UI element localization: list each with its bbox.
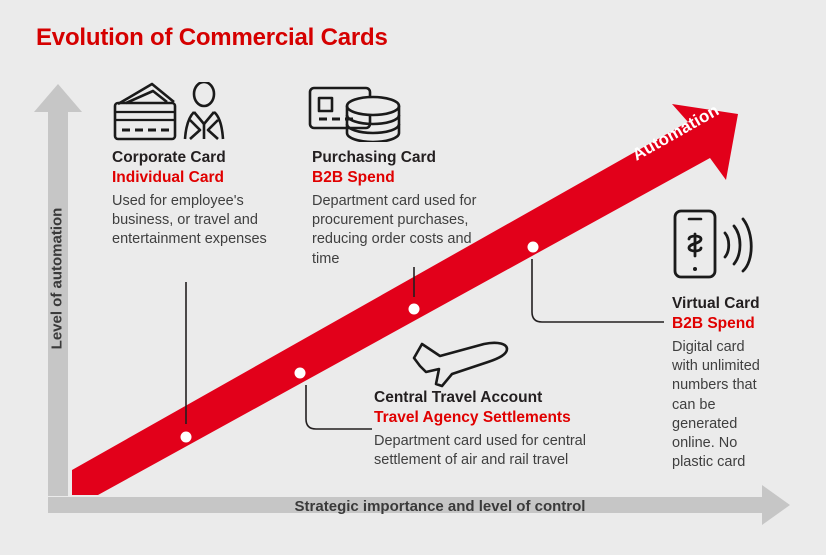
node-title: Central Travel Account — [374, 388, 589, 407]
node-title: Virtual Card — [672, 294, 772, 313]
node-description: Department card used for central settlem… — [374, 432, 589, 471]
node-subtitle: B2B Spend — [672, 314, 772, 333]
airplane-icon — [412, 336, 512, 393]
mobile-phone-contactless-payment-icon — [672, 208, 754, 291]
node-corporate-card: Corporate Card Individual Card Used for … — [112, 148, 277, 250]
node-subtitle: B2B Spend — [312, 168, 477, 187]
node-title: Corporate Card — [112, 148, 277, 167]
node-description: Used for employee's business, or travel … — [112, 192, 277, 250]
node-central-travel-account: Central Travel Account Travel Agency Set… — [374, 388, 589, 470]
node-virtual-card: Virtual Card B2B Spend Digital card with… — [672, 294, 772, 473]
x-axis-label: Strategic importance and level of contro… — [180, 498, 700, 515]
node-description: Digital card with unlimited numbers that… — [672, 338, 772, 473]
credit-card-and-coins-icon — [308, 84, 402, 147]
milestone-dot-central-travel-account — [295, 368, 306, 379]
milestone-dot-corporate-card — [181, 432, 192, 443]
milestone-dot-purchasing-card — [409, 304, 420, 315]
connector-virtual-card — [532, 259, 664, 322]
y-axis-label: Level of automation — [49, 169, 66, 389]
infographic-canvas: Evolution of Commercial Cards Automation… — [0, 0, 826, 555]
node-description: Department card used for procurement pur… — [312, 192, 477, 269]
node-purchasing-card: Purchasing Card B2B Spend Department car… — [312, 148, 477, 269]
node-title: Purchasing Card — [312, 148, 477, 167]
credit-card-and-businessperson-icon — [112, 82, 234, 149]
connector-central-travel-account — [306, 385, 372, 429]
node-subtitle: Travel Agency Settlements — [374, 408, 589, 427]
milestone-dot-virtual-card — [528, 242, 539, 253]
node-subtitle: Individual Card — [112, 168, 277, 187]
